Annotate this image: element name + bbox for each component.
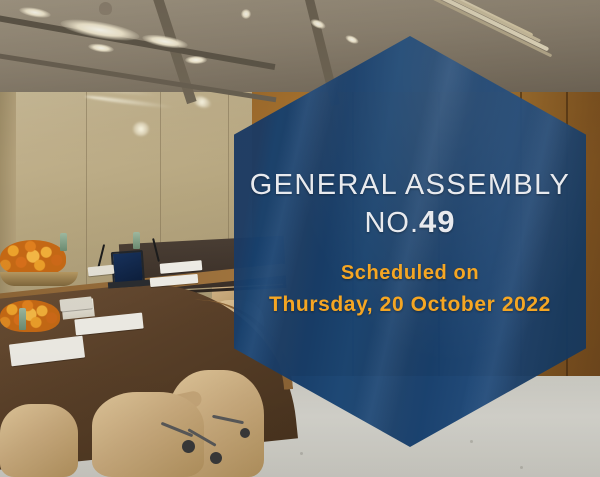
ceiling-speaker bbox=[99, 2, 112, 15]
flower-arrangement bbox=[0, 300, 60, 332]
water-bottle bbox=[19, 308, 26, 330]
ceiling-light bbox=[241, 9, 251, 19]
hexagon-badge: GENERAL ASSEMBLY NO.49 Scheduled on Thur… bbox=[234, 36, 586, 447]
schedule-label: Scheduled on bbox=[341, 262, 479, 285]
water-bottle bbox=[60, 233, 67, 251]
ceiling-light bbox=[185, 56, 207, 64]
wall-seam bbox=[86, 70, 87, 300]
water-bottle bbox=[133, 232, 140, 249]
assembly-number-value: 49 bbox=[419, 204, 455, 239]
poster-canvas: GENERAL ASSEMBLY NO.49 Scheduled on Thur… bbox=[0, 0, 600, 477]
badge-text-block: GENERAL ASSEMBLY NO.49 Scheduled on Thur… bbox=[234, 36, 586, 447]
assembly-number-line: NO.49 bbox=[364, 205, 455, 240]
conference-chair bbox=[0, 404, 78, 477]
floor-speck bbox=[520, 466, 523, 469]
chair-caster bbox=[210, 452, 222, 464]
floor-speck bbox=[300, 452, 303, 455]
chair-caster bbox=[182, 440, 195, 453]
flower-bowl bbox=[0, 272, 78, 286]
assembly-number-prefix: NO. bbox=[364, 207, 419, 239]
wall-reflection bbox=[133, 122, 149, 136]
flower-arrangement bbox=[0, 240, 66, 276]
assembly-title: GENERAL ASSEMBLY bbox=[250, 169, 571, 201]
schedule-date: Thursday, 20 October 2022 bbox=[269, 293, 551, 317]
